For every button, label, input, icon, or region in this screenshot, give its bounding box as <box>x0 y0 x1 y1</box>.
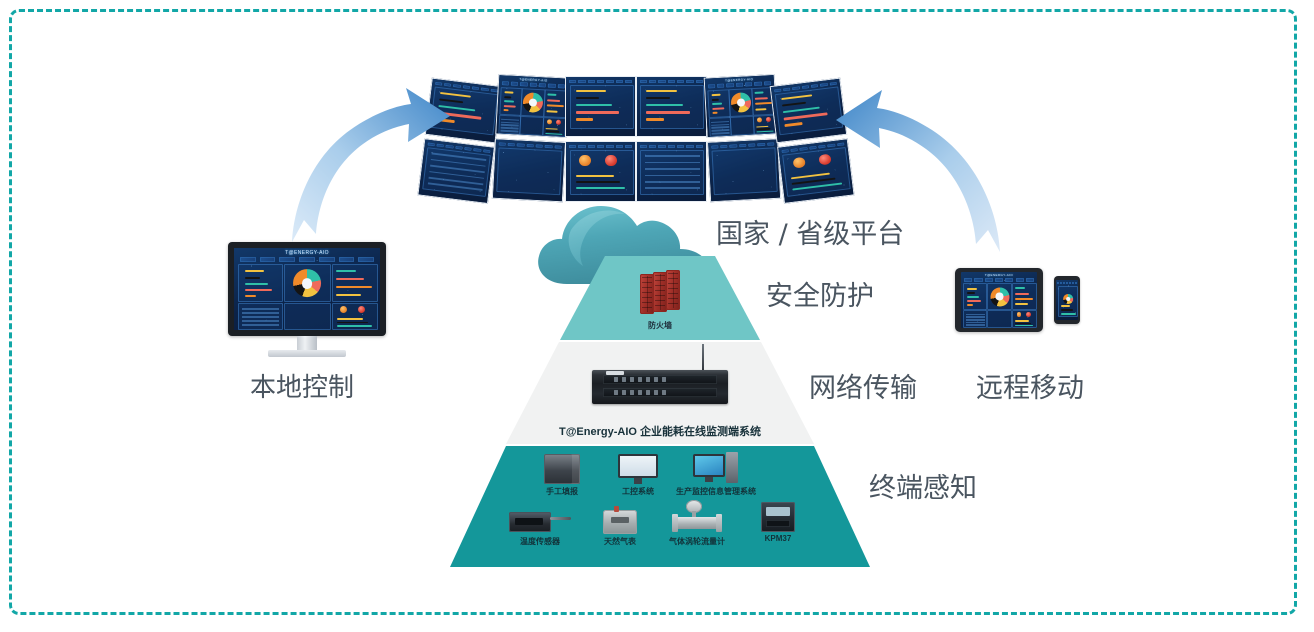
video-wall-column <box>636 76 707 204</box>
device-label: KPM37 <box>742 534 814 543</box>
gauge-panel <box>570 150 634 194</box>
bar <box>337 322 368 324</box>
dashboard-screen <box>566 77 635 136</box>
data-table-panel <box>498 114 521 135</box>
nav-tab[interactable] <box>763 82 771 86</box>
nav-tab[interactable] <box>535 144 543 148</box>
dashboard-screen: T@ENERGY-AIO <box>496 75 568 137</box>
label-network-transmission: 网络传输 <box>809 366 917 405</box>
nav-tab[interactable] <box>1026 278 1034 281</box>
nav-tab[interactable] <box>606 145 613 149</box>
device-label: 工控系统 <box>600 486 676 497</box>
dashboard-nav-tabs[interactable] <box>569 145 632 149</box>
gauge-indicator <box>579 155 591 167</box>
bar <box>967 300 981 302</box>
nav-tab[interactable] <box>538 84 546 88</box>
bar <box>967 296 979 298</box>
nav-tab[interactable] <box>578 80 585 84</box>
nav-tab[interactable] <box>358 257 374 262</box>
table-row <box>645 187 701 189</box>
desktop-monitor-icon <box>618 454 658 484</box>
bar <box>547 93 556 95</box>
label-terminal-sensing: 终端感知 <box>869 466 977 505</box>
device-label: 生产监控信息管理系统 <box>668 486 764 497</box>
table-row <box>966 316 985 318</box>
video-wall-screen[interactable] <box>636 76 707 137</box>
bar <box>646 104 683 106</box>
table-row <box>966 324 985 326</box>
firewall-icon <box>666 270 680 310</box>
bar <box>967 288 977 290</box>
bar <box>576 118 593 120</box>
bar <box>336 278 364 280</box>
firewall-icon <box>640 274 654 314</box>
terminal-device: KPM37 <box>742 502 814 543</box>
bar <box>1015 293 1029 295</box>
nav-tab[interactable] <box>717 84 725 88</box>
arrow-local-to-platform <box>278 84 453 246</box>
nav-tab[interactable] <box>455 146 463 150</box>
label-remote-mobile: 远程移动 <box>976 366 1084 405</box>
bar <box>336 270 355 272</box>
nav-tab[interactable] <box>658 145 665 149</box>
table-row <box>645 168 701 170</box>
nav-tab[interactable] <box>597 80 604 84</box>
bar <box>1061 309 1073 311</box>
bar <box>245 270 264 272</box>
donut-chart-panel <box>284 264 331 302</box>
table-row <box>645 155 701 157</box>
table-row <box>242 316 279 318</box>
nav-tab[interactable] <box>578 145 585 149</box>
aio-gateway-device <box>592 362 728 404</box>
bar <box>576 181 620 183</box>
bar <box>504 96 511 98</box>
bar <box>754 97 767 100</box>
nav-tab[interactable] <box>240 257 256 262</box>
donut-chart <box>1063 294 1073 304</box>
bar <box>712 103 723 106</box>
data-table-panel <box>963 310 987 328</box>
bar-chart-panel <box>570 85 634 128</box>
dashboard-title: T@ENERGY-AIO <box>961 273 1037 277</box>
video-wall-screen[interactable] <box>565 76 636 137</box>
map-panel <box>284 303 331 330</box>
monitor-stand-base <box>268 350 346 357</box>
data-table-panel <box>640 150 704 194</box>
nav-tab[interactable] <box>1075 282 1077 284</box>
dashboard-screen <box>493 139 565 201</box>
map-panel <box>730 115 754 136</box>
video-wall-column: T@ENERGY-AIO <box>703 74 780 204</box>
bar <box>503 109 508 111</box>
device-label: 气体涡轮流量计 <box>650 536 744 547</box>
nav-tab[interactable] <box>677 80 684 84</box>
bar <box>337 318 363 320</box>
nav-tab[interactable] <box>299 257 315 262</box>
device-label: 天然气表 <box>584 536 656 547</box>
nav-tab[interactable] <box>625 80 632 84</box>
monitor-bezel: T@ENERGY-AIO <box>228 242 386 336</box>
dashboard-nav-tabs[interactable] <box>640 145 703 149</box>
bar <box>712 112 717 114</box>
nav-tab[interactable] <box>554 145 562 149</box>
bar <box>546 110 558 113</box>
bar <box>545 133 562 135</box>
label-security-protection: 安全防护 <box>766 274 874 313</box>
nav-tab[interactable] <box>569 80 576 84</box>
nav-tab[interactable] <box>995 278 1003 281</box>
bar <box>1015 325 1033 327</box>
nav-tab[interactable] <box>668 80 675 84</box>
nav-tab[interactable] <box>1066 282 1068 284</box>
bar <box>646 118 663 120</box>
tablet-device: T@ENERGY-AIO <box>955 268 1043 332</box>
bar <box>1061 305 1070 307</box>
firewall-label: 防火墙 <box>450 320 870 331</box>
video-wall-screen[interactable]: T@ENERGY-AIO <box>703 74 777 138</box>
nav-tab[interactable] <box>501 82 509 86</box>
workstation-icon <box>693 452 739 484</box>
table-row <box>242 324 279 326</box>
terminal-device: 气体涡轮流量计 <box>650 500 744 547</box>
dashboard-screen: T@ENERGY-AIO <box>961 272 1037 328</box>
smartphone-device <box>1054 276 1080 324</box>
nav-tab[interactable] <box>1057 282 1059 284</box>
monitor-screen: T@ENERGY-AIO <box>234 248 380 330</box>
firewall-icon <box>653 272 667 312</box>
donut-chart-panel <box>987 283 1013 310</box>
gas-meter-icon <box>603 506 637 534</box>
nav-tab[interactable] <box>677 145 684 149</box>
video-wall-screen[interactable] <box>636 141 707 202</box>
bar <box>245 289 272 291</box>
nav-tab[interactable] <box>696 145 703 149</box>
donut-chart <box>730 92 751 113</box>
nav-tab[interactable] <box>720 145 728 149</box>
temperature-sensor-icon <box>509 508 571 534</box>
dashboard-screen: T@ENERGY-AIO <box>234 248 380 330</box>
nav-tab[interactable] <box>1069 282 1071 284</box>
nav-tab[interactable] <box>616 80 623 84</box>
nav-tab[interactable] <box>640 80 647 84</box>
dashboard-nav-tabs[interactable] <box>240 257 374 262</box>
dashboard-nav-tabs[interactable] <box>640 80 703 84</box>
bar <box>336 294 361 296</box>
nav-tab[interactable] <box>649 145 656 149</box>
video-wall: T@ENERGY-AIOT@ENERGY-AIO <box>424 76 848 204</box>
metrics-panel <box>332 264 378 302</box>
nav-tab[interactable] <box>625 145 632 149</box>
bar <box>1015 287 1025 289</box>
nav-tab[interactable] <box>711 145 719 149</box>
nav-tab[interactable] <box>597 145 604 149</box>
gauge-indicator <box>340 306 347 313</box>
gauge-panel <box>752 114 776 135</box>
nav-tab[interactable] <box>319 257 335 262</box>
gauge-panel <box>542 117 566 137</box>
video-wall-column <box>565 76 636 204</box>
bar <box>782 95 813 101</box>
bar <box>576 90 607 92</box>
dashboard-nav-tabs[interactable] <box>1057 282 1077 284</box>
gauge-indicator <box>555 120 560 125</box>
bar <box>245 283 268 285</box>
bar <box>245 295 256 297</box>
turbine-flowmeter-icon <box>672 500 722 534</box>
nav-tab[interactable] <box>1072 282 1074 284</box>
nav-tab[interactable] <box>520 83 528 87</box>
bar <box>646 111 689 113</box>
bar <box>576 104 613 106</box>
bar <box>576 187 625 189</box>
donut-chart <box>990 287 1009 306</box>
bar-chart-panel <box>640 85 704 128</box>
nav-tab[interactable] <box>279 257 295 262</box>
bar <box>576 97 600 99</box>
bar <box>1015 298 1034 300</box>
map-panel <box>987 310 1013 328</box>
nav-tab[interactable] <box>735 83 743 87</box>
mobile-panel <box>1058 286 1078 318</box>
gauge-indicator <box>793 157 806 169</box>
bar-chart-panel <box>499 87 522 116</box>
bar <box>336 286 372 288</box>
nav-tab[interactable] <box>616 145 623 149</box>
nav-tab[interactable] <box>472 86 480 90</box>
device-label: 手工填报 <box>524 486 600 497</box>
nav-tab[interactable] <box>964 278 972 281</box>
terminal-device: 温度传感器 <box>498 508 582 547</box>
metrics-panel <box>1012 283 1037 310</box>
dashboard-screen: T@ENERGY-AIO <box>704 75 776 137</box>
bar-chart-panel <box>707 89 730 118</box>
terminal-device: 生产监控信息管理系统 <box>668 452 764 497</box>
bar <box>784 113 827 120</box>
bar <box>755 108 767 111</box>
donut-chart-panel <box>728 88 753 117</box>
bar <box>967 292 975 294</box>
bar <box>546 99 559 102</box>
bar <box>646 97 670 99</box>
video-wall-screen[interactable]: T@ENERGY-AIO <box>495 74 569 138</box>
dashboard-screen <box>1056 280 1078 320</box>
bar <box>576 175 614 177</box>
bar <box>646 90 677 92</box>
bar <box>245 277 260 279</box>
nav-tab[interactable] <box>707 85 715 89</box>
label-local-control: 本地控制 <box>250 367 354 404</box>
dashboard-screen <box>637 142 706 201</box>
nav-tab[interactable] <box>696 80 703 84</box>
nav-tab[interactable] <box>729 144 737 148</box>
label-national-platform: 国家 / 省级平台 <box>716 212 904 251</box>
bar <box>712 107 725 110</box>
bar <box>1015 303 1028 305</box>
nav-tab[interactable] <box>754 82 762 86</box>
data-table-panel <box>238 303 282 330</box>
map-panel <box>496 148 562 195</box>
table-row <box>645 162 701 164</box>
nav-tab[interactable] <box>588 145 595 149</box>
nav-tab[interactable] <box>260 257 276 262</box>
gauge-indicator <box>1026 312 1031 317</box>
nav-tab[interactable] <box>985 278 993 281</box>
nav-tab[interactable] <box>529 83 537 87</box>
table-row <box>966 322 985 324</box>
nav-tab[interactable] <box>498 142 506 146</box>
nav-tab[interactable] <box>544 145 552 149</box>
nav-tab[interactable] <box>686 80 693 84</box>
gauge-indicator <box>358 306 365 313</box>
nav-tab[interactable] <box>745 83 753 87</box>
table-row <box>242 312 279 314</box>
nav-tab[interactable] <box>526 144 534 148</box>
nav-tab[interactable] <box>668 145 675 149</box>
table-row <box>500 130 518 132</box>
gauge-panel <box>332 303 378 330</box>
bar <box>756 130 773 132</box>
gauge-indicator <box>757 118 762 123</box>
dashboard-screen <box>566 142 635 201</box>
nav-tab[interactable] <box>1063 282 1065 284</box>
table-row <box>242 308 279 310</box>
table-row <box>711 132 729 134</box>
nav-tab[interactable] <box>726 84 734 88</box>
video-wall-screen[interactable] <box>492 138 566 202</box>
bar <box>337 325 372 327</box>
bar <box>504 92 513 94</box>
bar <box>1015 320 1029 322</box>
gauge-indicator <box>605 155 617 167</box>
nav-tab[interactable] <box>453 84 461 88</box>
nav-tab[interactable] <box>569 145 576 149</box>
nav-tab[interactable] <box>517 143 525 147</box>
nav-tab[interactable] <box>748 143 756 147</box>
table-row <box>966 319 985 321</box>
terminal-device: 工控系统 <box>600 454 676 497</box>
nav-tab[interactable] <box>548 84 556 88</box>
nav-tab[interactable] <box>686 145 693 149</box>
table-row <box>645 175 701 177</box>
bar <box>784 107 821 113</box>
nav-tab[interactable] <box>1005 278 1013 281</box>
nav-tab[interactable] <box>640 145 647 149</box>
gauge-indicator <box>547 120 552 125</box>
dashboard-nav-tabs[interactable] <box>964 278 1034 281</box>
table-row <box>645 181 701 183</box>
nav-tab[interactable] <box>738 144 746 148</box>
bar <box>1061 313 1076 315</box>
bar <box>576 111 619 113</box>
nav-tab[interactable] <box>606 80 613 84</box>
bar-chart-panel <box>238 264 282 302</box>
bar <box>754 102 771 105</box>
donut-chart-panel <box>520 88 545 117</box>
bar <box>711 99 718 101</box>
table-row <box>242 320 279 322</box>
server-rack-icon <box>544 454 580 484</box>
nav-tab[interactable] <box>339 257 355 262</box>
video-wall-screen[interactable] <box>565 141 636 202</box>
dashboard-nav-tabs[interactable] <box>569 80 632 84</box>
nav-tab[interactable] <box>1060 282 1062 284</box>
nav-tab[interactable] <box>757 143 765 147</box>
desktop-monitor: T@ENERGY-AIO <box>228 242 386 360</box>
dashboard-screen <box>708 139 780 201</box>
dashboard-screen <box>637 77 706 136</box>
nav-tab[interactable] <box>511 82 519 86</box>
nav-tab[interactable] <box>1016 278 1024 281</box>
bar <box>783 102 807 107</box>
device-label: 温度传感器 <box>498 536 582 547</box>
map-panel <box>712 148 778 195</box>
bar <box>785 123 802 127</box>
terminal-device: 手工填报 <box>524 454 600 497</box>
nav-tab[interactable] <box>473 148 481 152</box>
bar <box>503 105 516 108</box>
nav-tab[interactable] <box>766 142 774 146</box>
gauge-indicator <box>765 117 770 122</box>
metrics-panel <box>543 89 567 118</box>
nav-tab[interactable] <box>649 80 656 84</box>
data-table-panel <box>708 116 731 137</box>
dashboard-title: T@ENERGY-AIO <box>234 250 380 256</box>
gateway-label: T@Energy-AIO 企业能耗在线监测端系统 <box>450 423 870 439</box>
bar <box>503 100 514 103</box>
bar <box>1015 323 1031 325</box>
map-panel <box>519 115 543 136</box>
nav-tab[interactable] <box>974 278 982 281</box>
donut-chart <box>522 92 543 113</box>
nav-tab[interactable] <box>588 80 595 84</box>
nav-tab[interactable] <box>557 85 565 89</box>
bar <box>546 105 563 108</box>
video-wall-column: T@ENERGY-AIO <box>491 74 568 204</box>
terminal-device: 天然气表 <box>584 506 656 547</box>
nav-tab[interactable] <box>507 143 515 147</box>
table-row <box>966 314 985 316</box>
donut-chart <box>293 269 321 297</box>
bar <box>754 91 763 93</box>
gauge-indicator <box>1017 312 1022 317</box>
kpm37-meter-icon <box>761 502 795 532</box>
video-wall-screen[interactable] <box>707 138 781 202</box>
gauge-panel <box>1012 310 1037 328</box>
bar <box>967 304 973 306</box>
nav-tab[interactable] <box>658 80 665 84</box>
bar-chart-panel <box>963 283 987 310</box>
bar <box>711 94 720 96</box>
